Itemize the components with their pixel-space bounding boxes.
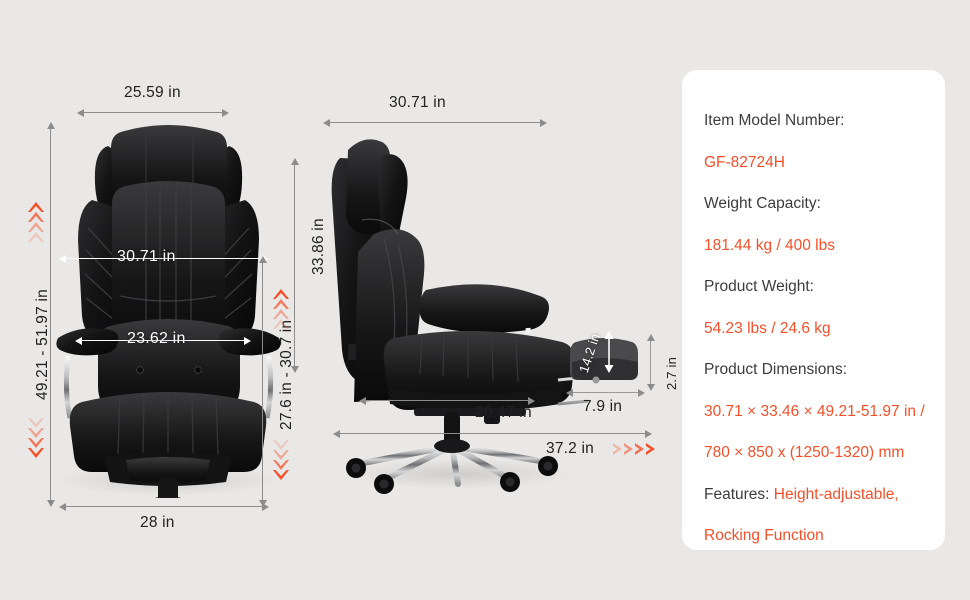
dim-line-footrest-height <box>650 340 651 384</box>
spec-weight-label: Product Weight: <box>704 266 945 308</box>
chevrons-up-front-total-height <box>27 198 45 242</box>
spec-capacity-value: 181.44 kg / 400 lbs <box>704 225 945 267</box>
dim-arrow-right-side-extended-depth <box>645 430 652 438</box>
spec-features-row: Features: Height-adjustable, Rocking Fun… <box>704 474 936 557</box>
dim-line-front-base-width <box>66 506 262 507</box>
dim-arrow-left-side-extended-depth <box>333 430 340 438</box>
dim-label-front-base-width: 28 in <box>140 514 175 532</box>
spec-model-label: Item Model Number: <box>704 100 945 142</box>
dim-arrow-left-front-base-width <box>59 503 66 511</box>
dim-arrow-left-front-width-top <box>77 109 84 117</box>
chevrons-right-side-extended-depth <box>611 441 659 457</box>
dim-arrow-left-side-overall-depth <box>323 119 330 127</box>
spec-model-value: GF-82724H <box>704 142 945 184</box>
dim-arrow-footrest-width <box>596 330 622 374</box>
dim-arrow-down-front-back-height <box>291 366 299 373</box>
front-view-chair-image <box>48 108 288 498</box>
spec-capacity-label: Weight Capacity: <box>704 183 945 225</box>
dim-arrow-right-side-overall-depth <box>540 119 547 127</box>
dim-label-side-seat-depth: 20.47 in <box>475 404 532 422</box>
dim-label-side-extended-depth: 37.2 in <box>546 440 594 458</box>
chevrons-up-front-seat-height <box>272 285 290 329</box>
dim-label-footrest-height: 2.7 in <box>664 357 679 390</box>
dim-label-front-back-height: 33.86 in <box>310 218 328 275</box>
dim-label-side-overall-depth: 30.71 in <box>389 94 446 112</box>
dim-arrow-right-footrest-depth <box>638 389 645 397</box>
spec-dimensions-value-line2: 780 × 850 x (1250-1320) mm <box>704 432 945 474</box>
dim-label-footrest-depth: 7.9 in <box>583 398 622 416</box>
dim-arrow-right-front-width-top <box>222 109 229 117</box>
dim-arrow-up-footrest-height <box>647 334 655 341</box>
dim-line-side-extended-depth <box>340 433 645 434</box>
dim-arrow-right-front-base-width <box>262 503 269 511</box>
dim-line-front-seat-height <box>262 262 263 500</box>
dim-line-side-seat-depth <box>366 400 528 401</box>
dim-label-front-backrest-width: 30.71 in <box>111 248 182 266</box>
chevrons-down-front-seat-height <box>272 440 290 484</box>
infographic-canvas: 25.59 in 49.21 - 51.97 in 30.71 in 23.62… <box>0 0 970 600</box>
side-view-chair-image <box>318 112 588 494</box>
dim-arrow-down-front-total-height <box>47 500 55 507</box>
spec-weight-value: 54.23 lbs / 24.6 kg <box>704 308 945 350</box>
dim-line-front-back-height <box>294 164 295 366</box>
dim-arrow-up-front-back-height <box>291 158 299 165</box>
dim-arrow-left-side-seat-depth <box>359 397 366 405</box>
specification-card: Item Model Number: GF-82724H Weight Capa… <box>682 70 945 550</box>
dim-line-side-overall-depth <box>330 122 540 123</box>
dim-arrow-left-front-backrest-width <box>59 255 66 263</box>
dim-arrow-down-footrest-height <box>647 384 655 391</box>
spec-features-label: Features: <box>704 486 769 503</box>
dim-line-footrest-depth <box>572 392 638 393</box>
dim-line-front-width-top <box>84 112 222 113</box>
dim-label-front-seat-width: 23.62 in <box>121 330 192 348</box>
dim-arrow-left-front-seat-width <box>75 337 82 345</box>
dim-arrow-left-footrest-depth <box>566 389 573 397</box>
spec-dimensions-label: Product Dimensions: <box>704 349 945 391</box>
spec-dimensions-value-line1: 30.71 × 33.46 × 49.21-51.97 in / <box>704 391 945 433</box>
dim-label-front-width-top: 25.59 in <box>124 84 181 102</box>
chevrons-down-front-total-height <box>27 418 45 462</box>
dim-arrow-right-front-seat-width <box>244 337 251 345</box>
dim-label-front-total-height: 49.21 - 51.97 in <box>34 289 52 400</box>
dim-arrow-up-front-total-height <box>47 122 55 129</box>
dim-arrow-up-front-seat-height <box>259 256 267 263</box>
